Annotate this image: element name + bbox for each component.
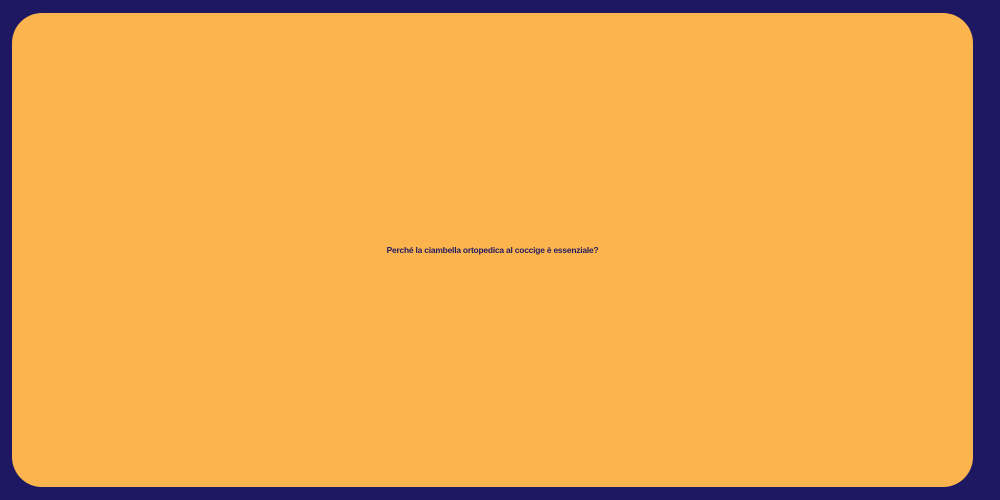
headline-text: Perché la ciambella ortopedica al coccig… — [12, 245, 973, 256]
slide-background-frame: Perché la ciambella ortopedica al coccig… — [0, 0, 1000, 500]
content-card: Perché la ciambella ortopedica al coccig… — [12, 13, 973, 487]
slide-root: Perché la ciambella ortopedica al coccig… — [0, 0, 1000, 500]
